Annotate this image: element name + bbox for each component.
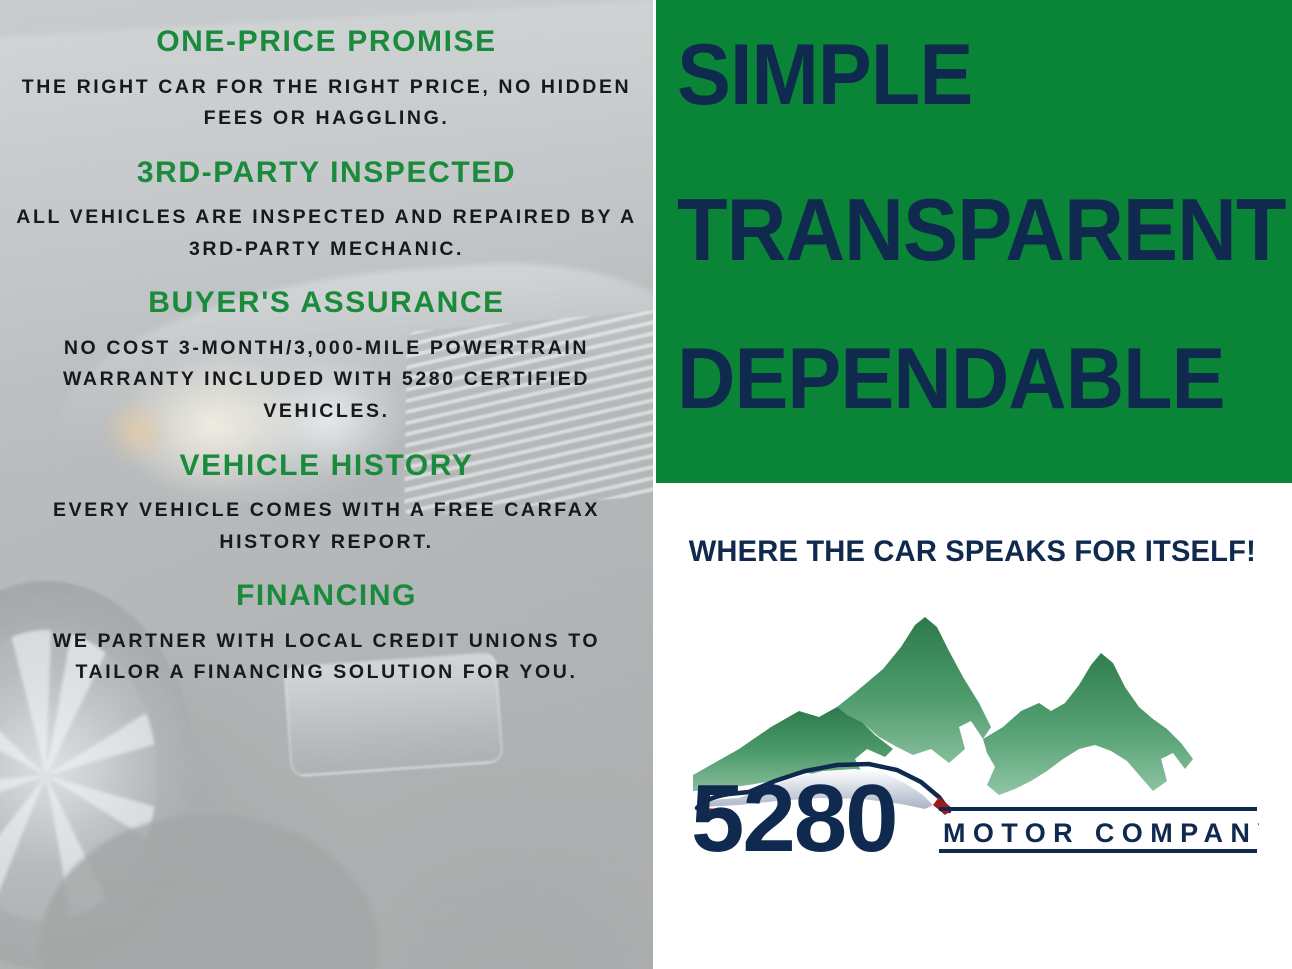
feature-title: BUYER'S ASSURANCE bbox=[14, 287, 639, 319]
feature-body: NO COST 3-MONTH/3,000-MILE POWERTRAIN WA… bbox=[14, 333, 639, 428]
flyer-page: ONE-PRICE PROMISE THE RIGHT CAR FOR THE … bbox=[0, 0, 1292, 969]
logo-panel: WHERE THE CAR SPEAKS FOR ITSELF! bbox=[653, 483, 1292, 969]
feature-title: 3RD-PARTY INSPECTED bbox=[14, 157, 639, 189]
headline-panel: SIMPLE TRANSPARENT DEPENDABLE bbox=[653, 0, 1292, 483]
headline-line-dependable: DEPENDABLE bbox=[677, 336, 1231, 422]
feature-vehicle-history: VEHICLE HISTORY EVERY VEHICLE COMES WITH… bbox=[14, 450, 639, 559]
company-logo: 5280 MOTOR COMPANY bbox=[687, 599, 1259, 857]
feature-one-price-promise: ONE-PRICE PROMISE THE RIGHT CAR FOR THE … bbox=[14, 26, 639, 135]
features-column: ONE-PRICE PROMISE THE RIGHT CAR FOR THE … bbox=[0, 0, 653, 969]
feature-body: EVERY VEHICLE COMES WITH A FREE CARFAX H… bbox=[14, 495, 639, 558]
feature-title: FINANCING bbox=[14, 580, 639, 612]
tagline: WHERE THE CAR SPEAKS FOR ITSELF! bbox=[689, 535, 1256, 569]
branding-column: SIMPLE TRANSPARENT DEPENDABLE WHERE THE … bbox=[653, 0, 1292, 969]
feature-buyers-assurance: BUYER'S ASSURANCE NO COST 3-MONTH/3,000-… bbox=[14, 287, 639, 427]
logo-wordmark: MOTOR COMPANY bbox=[939, 807, 1259, 853]
headline-line-transparent: TRANSPARENT bbox=[677, 186, 1231, 274]
feature-financing: FINANCING WE PARTNER WITH LOCAL CREDIT U… bbox=[14, 580, 639, 689]
feature-3rd-party-inspected: 3RD-PARTY INSPECTED ALL VEHICLES ARE INS… bbox=[14, 157, 639, 266]
logo-number: 5280 bbox=[691, 765, 897, 857]
feature-title: ONE-PRICE PROMISE bbox=[14, 26, 639, 58]
feature-list: ONE-PRICE PROMISE THE RIGHT CAR FOR THE … bbox=[0, 0, 653, 969]
feature-body: WE PARTNER WITH LOCAL CREDIT UNIONS TO T… bbox=[14, 626, 639, 689]
feature-body: ALL VEHICLES ARE INSPECTED AND REPAIRED … bbox=[14, 202, 639, 265]
feature-title: VEHICLE HISTORY bbox=[14, 450, 639, 482]
column-divider bbox=[653, 0, 656, 969]
feature-body: THE RIGHT CAR FOR THE RIGHT PRICE, NO HI… bbox=[14, 72, 639, 135]
headline-line-simple: SIMPLE bbox=[677, 32, 1231, 118]
svg-text:MOTOR COMPANY: MOTOR COMPANY bbox=[943, 818, 1259, 848]
mountain-right-icon bbox=[983, 653, 1193, 795]
